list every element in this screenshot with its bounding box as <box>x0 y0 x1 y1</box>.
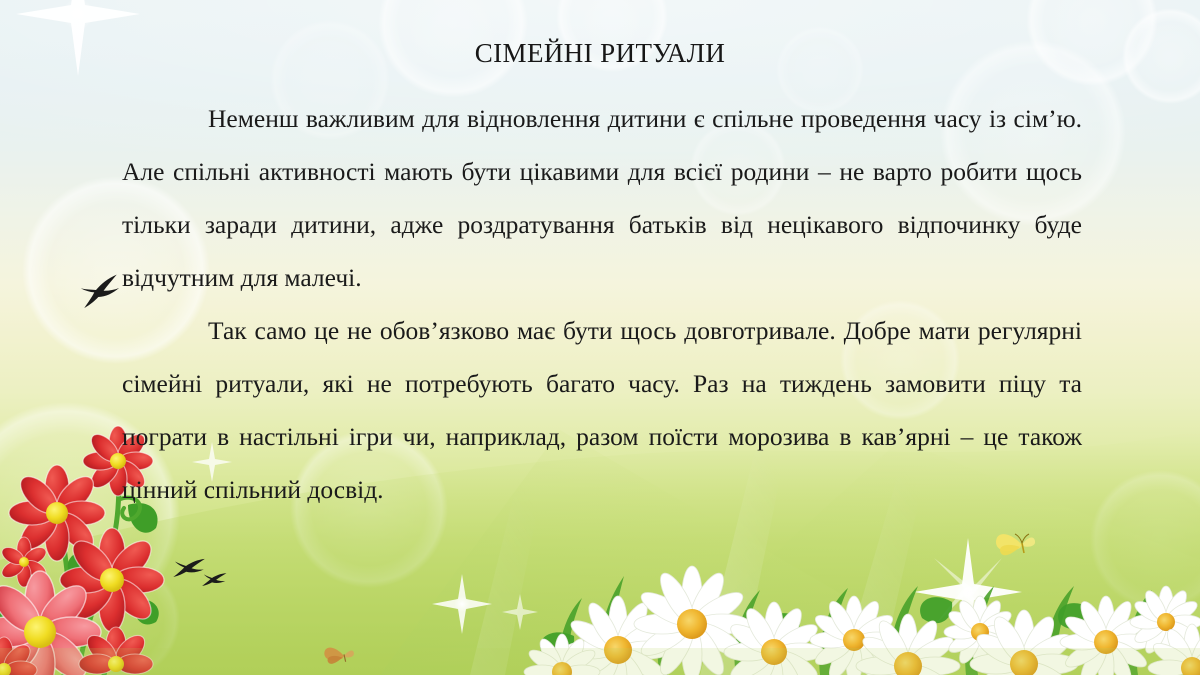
paragraph-1: Неменш важливим для відновлення дитини є… <box>122 92 1082 304</box>
paragraph-2: Так само це не обов’язково має бути щось… <box>122 304 1082 516</box>
page-title: СІМЕЙНІ РИТУАЛИ <box>0 38 1200 69</box>
slide-canvas: СІМЕЙНІ РИТУАЛИ Неменш важливим для відн… <box>0 0 1200 675</box>
slide-content: СІМЕЙНІ РИТУАЛИ Неменш важливим для відн… <box>0 0 1200 675</box>
body-text-block: Неменш важливим для відновлення дитини є… <box>122 92 1082 516</box>
